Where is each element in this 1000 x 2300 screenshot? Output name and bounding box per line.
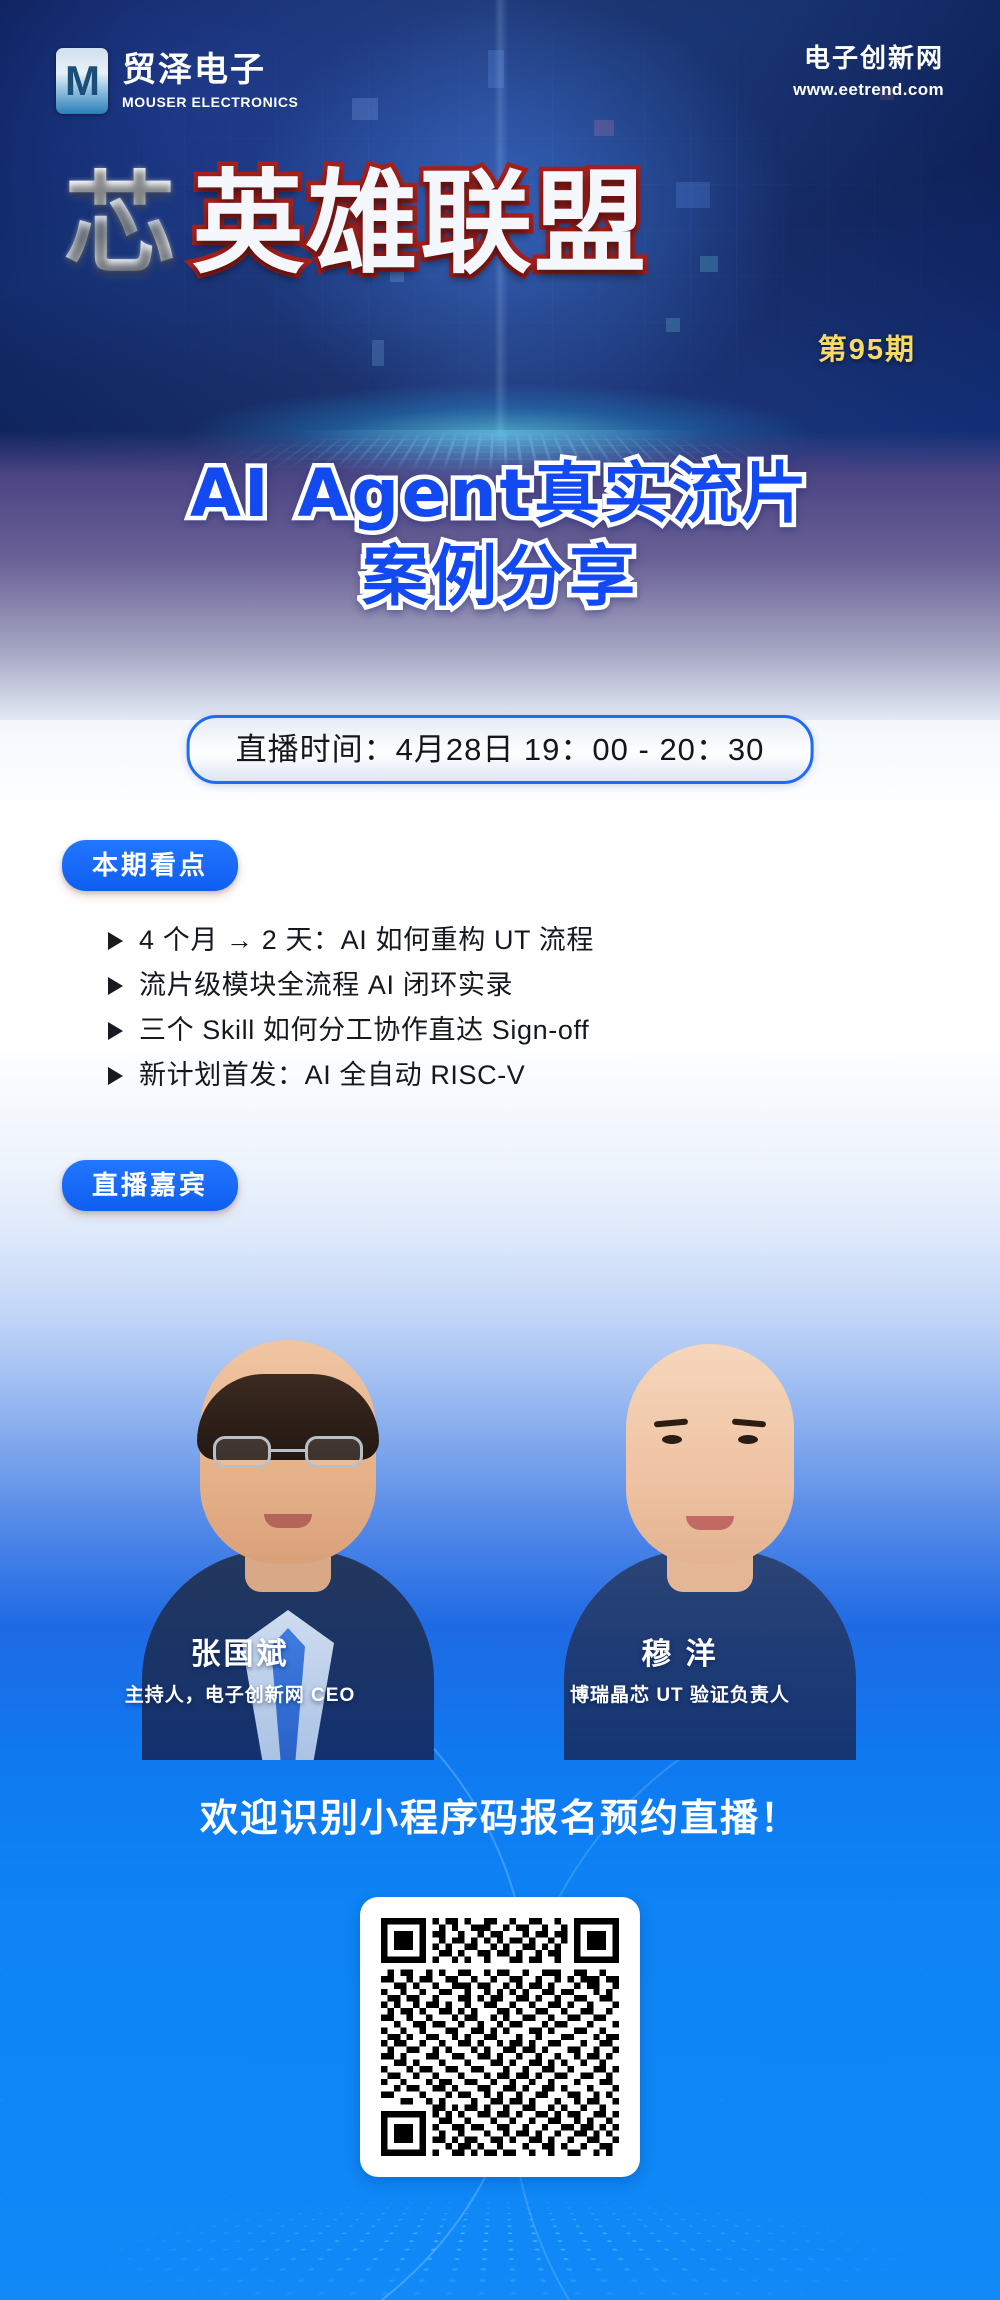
qr-code-card[interactable] [360,1897,640,2177]
eetrend-logo: 电子创新网 www.eetrend.com [793,44,944,98]
caret-right-icon [108,1067,123,1085]
main-title-line2: 案例分享 [0,535,1000,618]
highlights-list: 4 个月 → 2 天：AI 如何重构 UT 流程 流片级模块全流程 AI 闭环实… [108,918,928,1098]
list-item: 4 个月 → 2 天：AI 如何重构 UT 流程 [108,918,928,963]
highlights-tag: 本期看点 [62,840,238,891]
guests-tag: 直播嘉宾 [62,1160,238,1211]
speaker-name: 张国斌 [30,1640,450,1670]
miniprogram-qr-code-icon[interactable] [381,1918,619,2156]
show-logo-part1: 芯 [64,168,186,280]
speaker-caption-1: 张国斌 主持人，电子创新网 CEO [30,1640,450,1705]
main-title: AI Agent真实流片 案例分享 [0,452,1000,618]
list-item: 新计划首发：AI 全自动 RISC-V [108,1053,928,1098]
webinar-poster: M 贸泽电子 MOUSER ELECTRONICS 电子创新网 www.eetr… [0,0,1000,2300]
highlight-text: 三个 Skill 如何分工协作直达 Sign-off [139,1017,589,1044]
caret-right-icon [108,932,123,950]
mouser-logo: M 贸泽电子 MOUSER ELECTRONICS [56,48,298,114]
show-logo-part2: 英雄联盟 [192,168,648,280]
highlight-text: 4 个月 → 2 天：AI 如何重构 UT 流程 [139,927,594,954]
highlight-text: 新计划首发：AI 全自动 RISC-V [139,1062,525,1089]
cta-section: 欢迎识别小程序码报名预约直播！ [0,1800,1000,1838]
eetrend-name-cn: 电子创新网 [793,44,944,73]
mouser-logo-letter: M [65,60,99,102]
cta-text: 欢迎识别小程序码报名预约直播！ [200,1798,800,1840]
main-title-line1: AI Agent真实流片 [0,452,1000,535]
speaker-role: 主持人，电子创新网 CEO [30,1686,450,1705]
live-time-badge: 直播时间：4月28日 19：00 - 20：30 [187,715,814,784]
caret-right-icon [108,1022,123,1040]
poster-header: M 贸泽电子 MOUSER ELECTRONICS 电子创新网 www.eetr… [0,0,1000,140]
show-logo: 芯 英雄联盟 [64,168,648,280]
highlights-tag-label: 本期看点 [92,850,208,880]
eetrend-url: www.eetrend.com [793,81,944,98]
list-item: 三个 Skill 如何分工协作直达 Sign-off [108,1008,928,1053]
highlight-text: 流片级模块全流程 AI 闭环实录 [139,972,513,999]
speaker-caption-2: 穆 洋 博瑞晶芯 UT 验证负责人 [470,1640,890,1705]
mouser-m-icon: M [56,48,108,114]
guests-tag-label: 直播嘉宾 [92,1170,208,1200]
glasses-icon [213,1436,363,1470]
episode-number: 第95期 [818,336,916,365]
caret-right-icon [108,977,123,995]
speaker-name: 穆 洋 [470,1640,890,1670]
mouser-brand-cn: 贸泽电子 [122,53,298,89]
live-time-text: 直播时间：4月28日 19：00 - 20：30 [236,732,765,767]
mouser-brand-en: MOUSER ELECTRONICS [122,95,298,109]
list-item: 流片级模块全流程 AI 闭环实录 [108,963,928,1008]
speaker-role: 博瑞晶芯 UT 验证负责人 [470,1686,890,1705]
